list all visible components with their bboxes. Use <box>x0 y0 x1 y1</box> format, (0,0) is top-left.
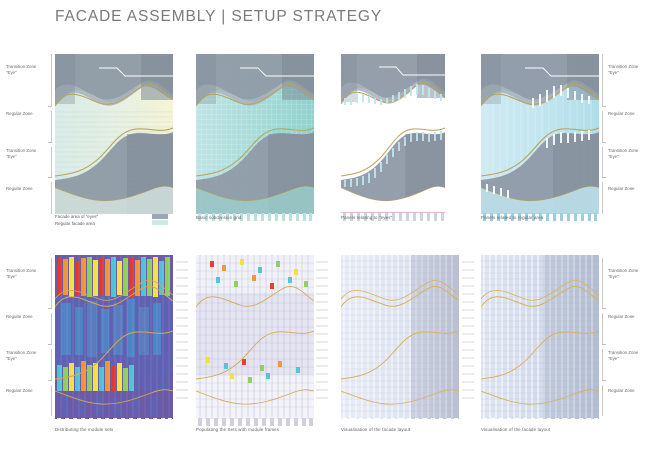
mullion-teeth <box>343 418 458 426</box>
axis-tick-1 <box>48 308 52 309</box>
axis-left-top: Transition Zone"Eye" Regular Zone Transi… <box>4 54 54 214</box>
panel-7-tick-rail <box>462 258 476 408</box>
mullion-teeth <box>483 418 598 426</box>
panel-module-sets[interactable] <box>55 255 173 420</box>
zone-label-0: Transition Zone"Eye" <box>6 268 36 280</box>
caption-panels-regular: Panels related to regular area <box>481 215 543 220</box>
panel-3-rule <box>341 212 445 213</box>
zone-label-2: Transition Zone"Eye" <box>6 148 36 160</box>
caption-panels-eyes: Panels relating to "eyes" <box>341 215 392 220</box>
facade-layout-diagram-2 <box>481 255 599 427</box>
axis-tick-3 <box>48 177 52 178</box>
facade-layout-diagram-1 <box>341 255 459 427</box>
panel-panels-regular[interactable] <box>481 54 599 214</box>
panel-5-tick-rail <box>176 258 190 408</box>
axis-rail <box>602 54 603 214</box>
caption-module-sets: Distributing the module sets <box>55 427 113 432</box>
page-title: FACADE ASSEMBLY | SETUP STRATEGY <box>55 8 382 26</box>
axis-tick-1 <box>48 106 52 107</box>
module-sets-heatmap <box>55 255 173 427</box>
zone-label-3: Regular Zone <box>608 388 635 394</box>
zone-label-0: Transition Zone"Eye" <box>608 268 638 280</box>
panel-facade-layout-1[interactable] <box>341 255 459 420</box>
axis-right-bottom: Transition Zone"Eye" Regular Zone Transi… <box>600 258 650 416</box>
axis-tick-2 <box>602 142 606 143</box>
zone-label-3: Regular Zone <box>608 186 635 192</box>
zone-label-1: Regular Zone <box>608 111 635 117</box>
caption-module-frames: Populating the Sets with module frames <box>196 427 279 432</box>
eyes-panels-diagram <box>341 54 445 222</box>
axis-right-top: Transition Zone"Eye" Regular Zone Transi… <box>600 54 650 214</box>
axis-rail <box>602 258 603 416</box>
caption-subdivision-grid: Basic subdivision grid <box>196 215 242 220</box>
axis-tick-3 <box>48 380 52 381</box>
zone-label-2: Transition Zone"Eye" <box>6 350 36 362</box>
presentation-board: FACADE ASSEMBLY | SETUP STRATEGY Transit… <box>0 0 650 459</box>
panel-module-frames[interactable] <box>196 255 314 420</box>
panel-6-tick-rail <box>316 258 330 408</box>
legend-swatch-regular <box>152 220 168 225</box>
panel-facade-zones[interactable] <box>55 54 173 214</box>
axis-tick-1 <box>602 308 606 309</box>
module-frames-diagram <box>196 255 314 427</box>
mullion-teeth <box>198 418 313 426</box>
mullion-teeth <box>57 418 172 426</box>
subdivision-grid-diagram <box>196 54 314 222</box>
axis-tick-3 <box>602 177 606 178</box>
panel-facade-layout-2[interactable] <box>481 255 599 420</box>
zone-label-2: Transition Zone"Eye" <box>608 350 638 362</box>
zone-label-2: Transition Zone"Eye" <box>608 148 638 160</box>
regular-panels-diagram <box>481 54 599 222</box>
caption-facade-layout-2: Visualisation of the facade layout <box>481 427 550 432</box>
axis-rail <box>51 54 52 214</box>
facade-zone-diagram <box>55 54 173 214</box>
panel-subdivision-grid[interactable] <box>196 54 314 214</box>
legend-swatch-eyes <box>152 214 168 219</box>
axis-tick-2 <box>602 344 606 345</box>
zone-label-1: Regular Zone <box>608 314 635 320</box>
zone-label-3: Regular Zone <box>6 186 33 192</box>
zone-label-1: Regular Zone <box>6 314 33 320</box>
axis-tick-2 <box>48 344 52 345</box>
axis-rail <box>51 258 52 416</box>
axis-tick-1 <box>602 106 606 107</box>
caption-facade-layout-1: Visualisation of the facade layout <box>341 427 410 432</box>
zone-label-1: Regular Zone <box>6 111 33 117</box>
zone-label-3: Regular Zone <box>6 388 33 394</box>
panel-panels-eyes[interactable] <box>341 54 445 214</box>
axis-left-bottom: Transition Zone"Eye" Regular Zone Transi… <box>4 258 54 416</box>
zone-label-0: Transition Zone"Eye" <box>6 64 36 76</box>
axis-tick-2 <box>48 142 52 143</box>
axis-tick-3 <box>602 380 606 381</box>
zone-label-0: Transition Zone"Eye" <box>608 64 638 76</box>
